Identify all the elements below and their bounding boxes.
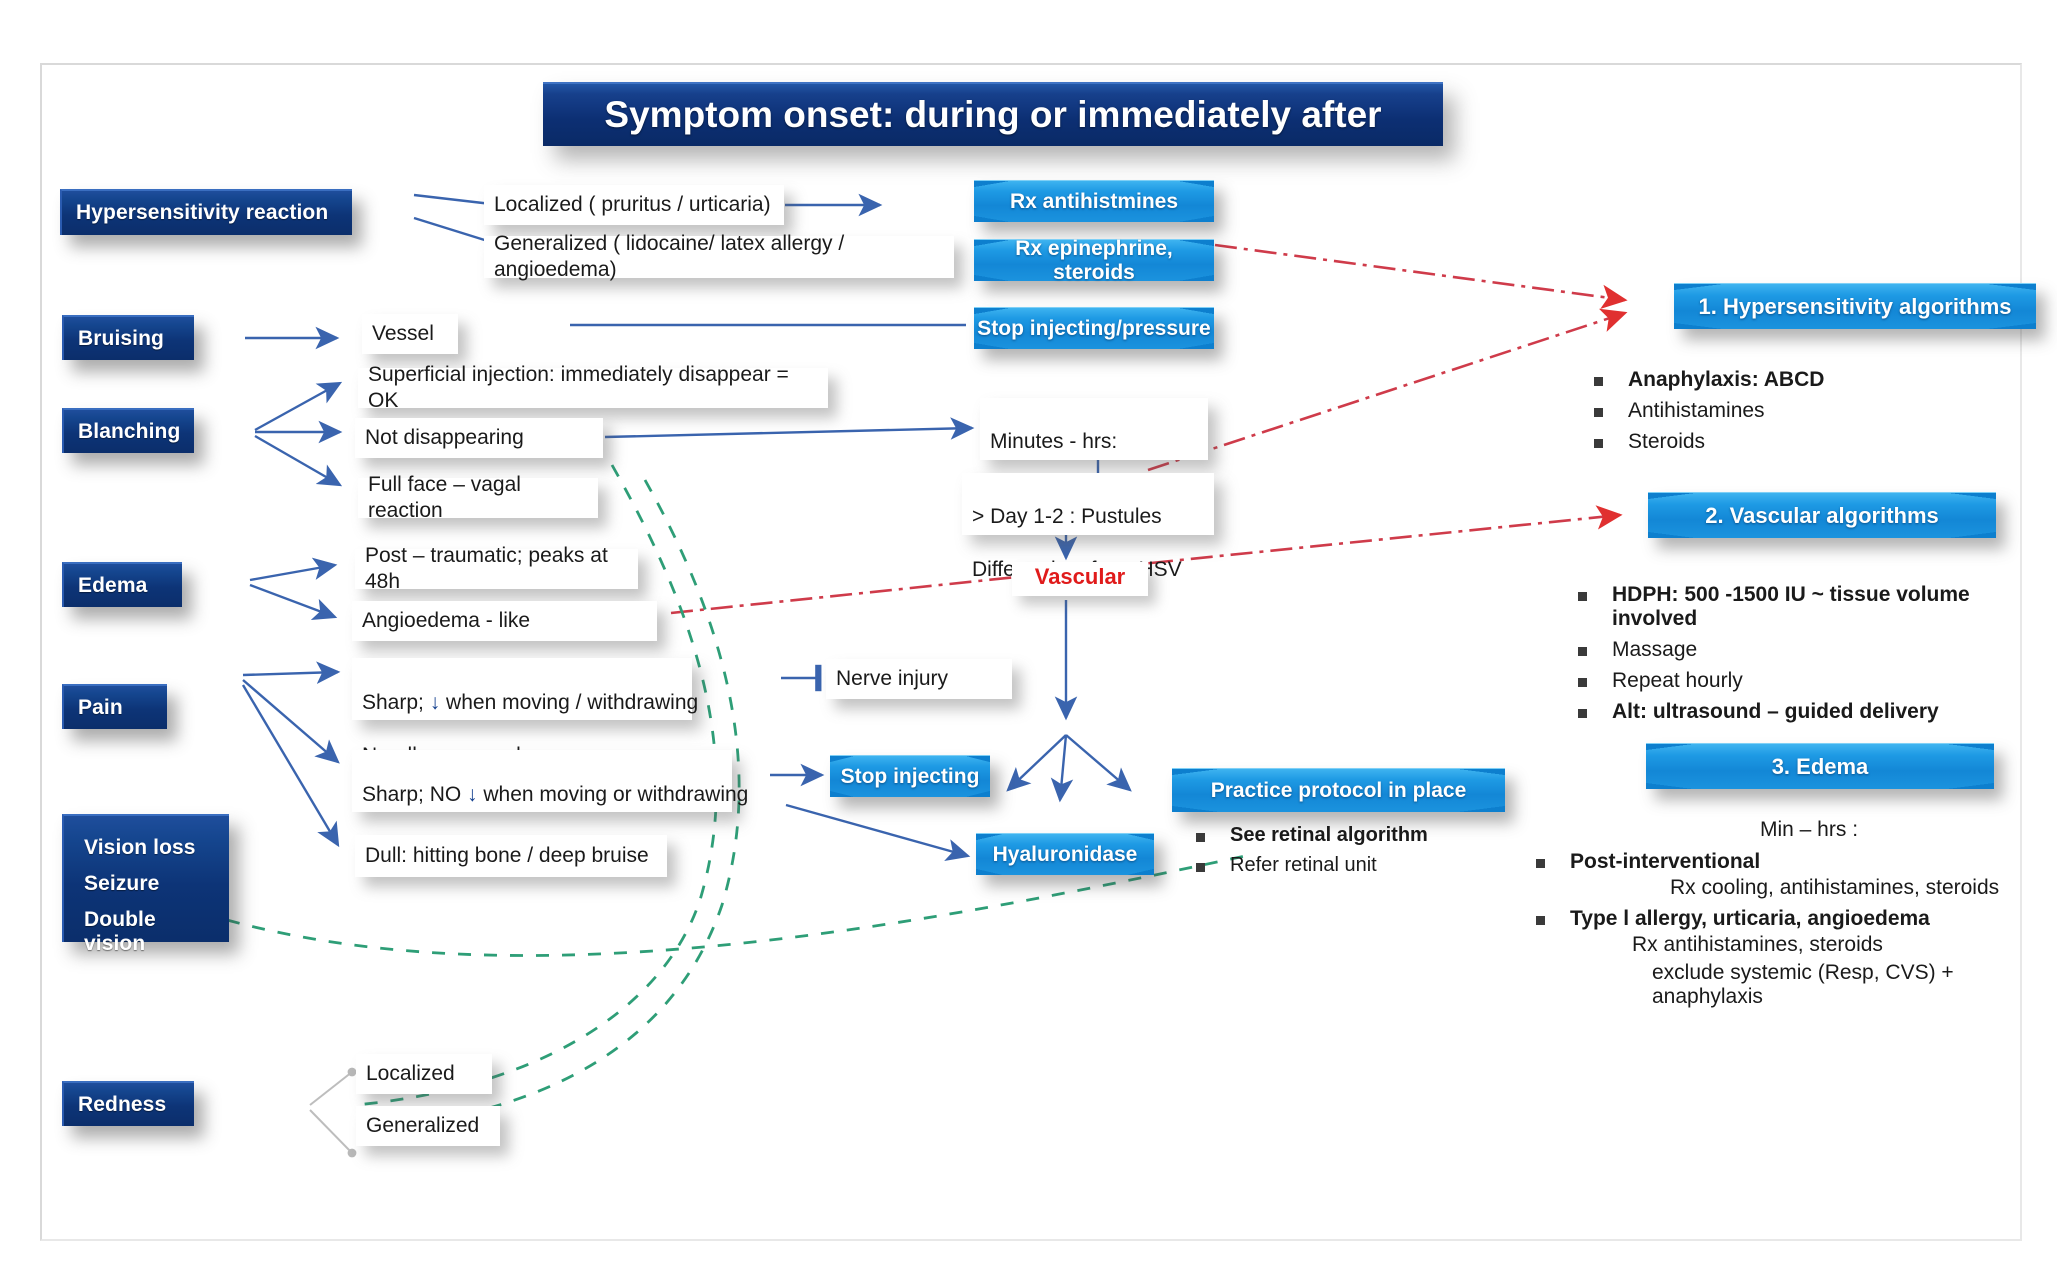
label-redness-localized: Localized [356,1054,492,1094]
label-post-traumatic: Post – traumatic; peaks at 48h [355,549,638,589]
list-item-text: Type l allergy, urticaria, angioedema [1570,907,1930,930]
box-hyaluronidase[interactable]: Hyaluronidase [976,833,1154,875]
label-full-face-vagal-reaction: Full face – vagal reaction [358,478,598,518]
practice-protocol-bullets: See retinal algorithm Refer retinal unit [1196,824,1536,884]
label-angioedema-like: Angioedema - like [352,601,657,641]
diagram-canvas: Symptom onset: during or immediately aft… [0,0,2057,1261]
label-redness-generalized: Generalized [356,1106,500,1146]
list-item: Repeat hourly [1578,669,2048,693]
sharp-suffix: when moving / withdrawing [440,691,698,714]
list-item: Steroids [1594,430,2034,454]
label-dull-hitting-bone: Dull: hitting bone / deep bruise [355,835,667,877]
list-item: Post-interventional Rx cooling, antihist… [1536,850,2046,900]
note-minutes-hrs-bluish-mottled: Minutes - hrs: Bluish /mottled [980,398,1208,460]
label-nerve-injury: Nerve injury [826,659,1012,699]
panel-bullets-vascular: HDPH: 500 -1500 IU ~ tissue volume invol… [1578,583,2048,731]
box-stop-injecting[interactable]: Stop injecting [830,755,990,797]
box-stop-injecting-pressure[interactable]: Stop injecting/pressure [974,307,1214,349]
down-arrow-icon: ↓ [467,783,478,806]
category-label-vision-loss: Vision loss [84,836,215,860]
category-hypersensitivity-reaction[interactable]: Hypersensitivity reaction [60,189,352,235]
list-item-sub: Rx cooling, antihistamines, steroids [1570,876,2046,900]
sharp-prefix: Sharp; [362,691,430,714]
list-item: Refer retinal unit [1196,854,1536,877]
category-vision-seizure-double-vision[interactable]: Vision loss Seizure Double vision [62,814,229,942]
category-redness[interactable]: Redness [62,1081,194,1126]
label-sharp-no-drop-needle: Sharp; NO ↓ when moving or withdrawing N… [352,750,732,812]
list-item: HDPH: 500 -1500 IU ~ tissue volume invol… [1578,583,2048,631]
label-not-disappearing: Not disappearing [355,418,603,458]
label-sharp-drop-needle: Sharp; ↓ when moving / withdrawing Needl… [352,658,692,720]
label-generalized-hypersensitivity: Generalized ( lidocaine/ latex allergy /… [484,236,954,278]
category-label: Hypersensitivity reaction [76,201,328,225]
category-bruising[interactable]: Bruising [62,315,194,360]
panel-heading-vascular-algorithms[interactable]: 2. Vascular algorithms [1648,492,1996,538]
note-vascular: Vascular [1012,562,1148,596]
list-item: Alt: ultrasound – guided delivery [1578,700,2048,724]
note-day-1-2-pustules: > Day 1-2 : Pustules Differentiate from … [962,473,1214,535]
label-superficial-injection: Superficial injection: immediately disap… [358,368,828,408]
label-vessel: Vessel [362,314,458,354]
box-rx-epinephrine-steroids[interactable]: Rx epinephrine, steroids [974,239,1214,281]
note-line1: Minutes - hrs: [990,429,1198,455]
category-label: Redness [78,1093,166,1117]
category-label: Pain [78,696,123,720]
panel-heading-edema[interactable]: 3. Edema [1646,743,1994,789]
sharp-no-suffix: when moving or withdrawing [478,783,749,806]
category-edema[interactable]: Edema [62,562,182,607]
list-item: Anaphylaxis: ABCD [1594,368,2034,392]
sharp-no-prefix: Sharp; NO [362,783,467,806]
note-line1: > Day 1-2 : Pustules [972,504,1204,530]
label-localized-hypersensitivity: Localized ( pruritus / urticaria) [484,185,784,225]
box-practice-protocol-in-place[interactable]: Practice protocol in place [1172,768,1505,812]
category-label: Blanching [78,420,180,444]
list-item: Type l allergy, urticaria, angioedema Rx… [1536,907,2046,1009]
category-label: Bruising [78,327,164,351]
panel-edema-lead: Min – hrs : [1760,818,1980,842]
list-item: See retinal algorithm [1196,824,1536,847]
category-label-seizure: Seizure [84,872,215,896]
panel-heading-hypersensitivity-algorithms[interactable]: 1. Hypersensitivity algorithms [1674,283,2036,329]
list-item-text: Post-interventional [1570,850,1760,873]
list-item: Antihistamines [1594,399,2034,423]
category-blanching[interactable]: Blanching [62,408,194,453]
list-item: Massage [1578,638,2048,662]
category-label: Edema [78,574,147,598]
panel-bullets-hypersensitivity: Anaphylaxis: ABCD Antihistamines Steroid… [1594,368,2034,461]
list-item-sub: Rx antihistamines, steroids [1570,933,2046,957]
category-label-double-vision: Double vision [84,908,215,956]
page-title: Symptom onset: during or immediately aft… [543,82,1443,146]
category-pain[interactable]: Pain [62,684,167,729]
panel-bullets-edema: Post-interventional Rx cooling, antihist… [1536,850,2046,1016]
list-item-sub2: exclude systemic (Resp, CVS) + anaphylax… [1570,961,2046,1009]
down-arrow-icon: ↓ [430,691,441,714]
box-rx-antihistmines[interactable]: Rx antihistmines [974,180,1214,222]
